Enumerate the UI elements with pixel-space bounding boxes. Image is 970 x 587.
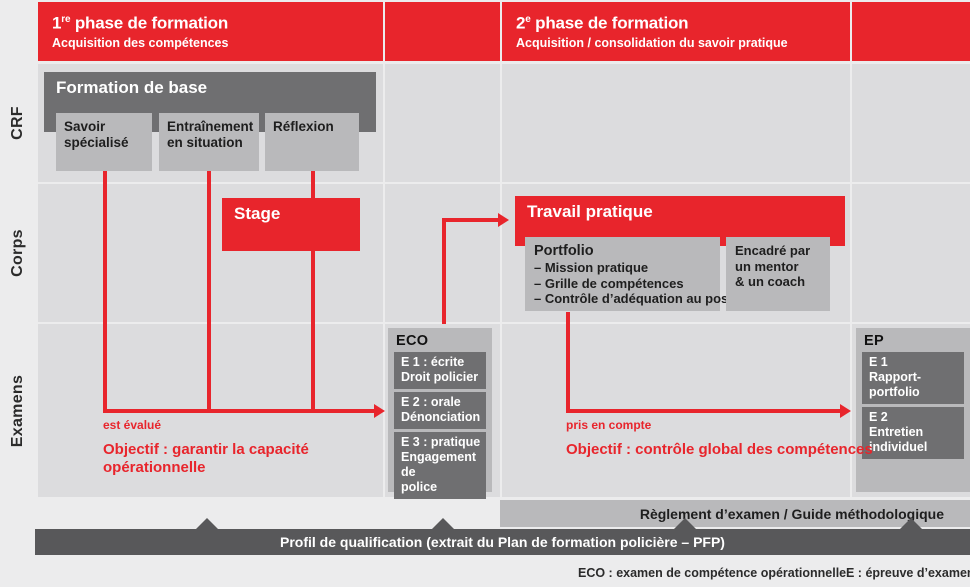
portfolio-item-3: – Contrôle d’adéquation au poste (534, 291, 712, 307)
portfolio-item-2: – Grille de compétences (534, 276, 712, 292)
legend-eco: ECO : examen de compétence opérationnell… (578, 566, 846, 580)
stage-box: Stage (222, 198, 360, 251)
note-objectif-gauche-line2: opérationnelle (103, 459, 309, 477)
stage-title: Stage (222, 198, 360, 224)
eco-item-e2: E 2 : orale Dénonciation (394, 392, 486, 429)
arrowhead-to-ep-icon (840, 404, 851, 418)
profil-qualification-bar: Profil de qualification (extrait du Plan… (35, 529, 970, 555)
profil-notch-2-icon (432, 518, 454, 529)
grid-cell-crf-c3 (502, 64, 850, 182)
portfolio-item-1: – Mission pratique (534, 260, 712, 276)
connector-entrainement-vertical (207, 170, 211, 413)
note-objectif-gauche-line1: Objectif : garantir la capacité (103, 441, 309, 459)
eco-item-e1-line1: E 1 : écrite (401, 355, 482, 370)
eco-item-e1-line2: Droit policier (401, 370, 482, 385)
connector-reflexion-vertical (311, 170, 315, 200)
connector-stage-to-travail-horizontal (442, 218, 500, 222)
row-label-examens: Examens (0, 324, 36, 497)
ep-item-e2-line2: Entretien (869, 425, 960, 440)
arrowhead-to-eco-icon (374, 404, 385, 418)
grid-cell-crf-c4 (852, 64, 970, 182)
grid-cell-crf-c2 (385, 64, 500, 182)
portfolio-panel: Portfolio – Mission pratique – Grille de… (525, 237, 720, 311)
profil-notch-1-icon (196, 518, 218, 529)
phase-2-header-spacer (852, 2, 970, 61)
encadre-line-1: Encadré par (735, 243, 822, 259)
phase-2-header: 2e phase de formation Acquisition / cons… (502, 2, 850, 61)
phase-1-subtitle: Acquisition des compétences (52, 35, 371, 51)
ep-title: EP (856, 328, 970, 352)
connector-stage-to-travail-vertical (442, 218, 446, 324)
ep-item-e2-line1: E 2 (869, 410, 960, 425)
ep-item-e1-line1: E 1 (869, 355, 960, 370)
ep-item-e1: E 1 Rapport-portfolio (862, 352, 964, 404)
ep-group: EP E 1 Rapport-portfolio E 2 Entretien i… (856, 328, 970, 492)
phase-1-title: 1re phase de formation (52, 10, 371, 33)
eco-item-e2-line2: Dénonciation (401, 410, 482, 425)
eco-item-e3: E 3 : pratique Engagement de police (394, 432, 486, 499)
encadre-line-2: un mentor (735, 259, 822, 275)
phase-1-header-spacer (385, 2, 500, 61)
connector-stage-vertical (311, 250, 315, 413)
connector-savoir-vertical (103, 170, 107, 413)
module-reflexion-line1: Réflexion (273, 119, 353, 135)
row-label-corps: Corps (0, 184, 36, 322)
formation-de-base-title: Formation de base (44, 72, 376, 98)
encadre-line-3: & un coach (735, 274, 822, 290)
eco-item-e2-line1: E 2 : orale (401, 395, 482, 410)
phase-1-header: 1re phase de formation Acquisition des c… (38, 2, 383, 61)
row-label-crf: CRF (0, 64, 36, 182)
note-pris-en-compte: pris en compte (566, 418, 651, 432)
module-savoir-line1: Savoir (64, 119, 146, 135)
note-objectif-gauche: Objectif : garantir la capacité opératio… (103, 441, 309, 477)
profil-notch-4-icon (900, 518, 922, 529)
ep-item-e2-line3: individuel (869, 440, 960, 455)
portfolio-title: Portfolio (534, 243, 712, 260)
ep-item-e2: E 2 Entretien individuel (862, 407, 964, 459)
module-savoir-line2: spécialisé (64, 135, 146, 151)
arrowhead-to-travail-pratique-icon (498, 213, 509, 227)
diagram-root: 1re phase de formation Acquisition des c… (0, 0, 970, 587)
eco-item-e3-line1: E 3 : pratique (401, 435, 482, 450)
phase-2-subtitle: Acquisition / consolidation du savoir pr… (516, 35, 838, 51)
travail-pratique-title: Travail pratique (515, 196, 845, 222)
note-est-evalue: est évalué (103, 418, 161, 432)
module-savoir-specialise: Savoir spécialisé (56, 113, 152, 171)
module-reflexion: Réflexion (265, 113, 359, 171)
profil-notch-3-icon (674, 518, 696, 529)
ep-item-e1-line2: Rapport-portfolio (869, 370, 960, 400)
encadre-par-panel: Encadré par un mentor & un coach (726, 237, 830, 311)
eco-item-e3-line3: police (401, 480, 482, 495)
module-entrainement-line1: Entraînement (167, 119, 253, 135)
note-objectif-droite: Objectif : contrôle global des compétenc… (566, 441, 873, 459)
grid-cell-corps-c4 (852, 184, 970, 322)
connector-portfolio-vertical (566, 312, 570, 411)
row-label-crf-text: CRF (9, 106, 27, 140)
module-entrainement-en-situation: Entraînement en situation (159, 113, 259, 171)
module-entrainement-line2: en situation (167, 135, 253, 151)
legend-e: E : épreuve d’examen (846, 566, 970, 580)
eco-group: ECO E 1 : écrite Droit policier E 2 : or… (388, 328, 492, 492)
row-label-examens-text: Examens (9, 374, 27, 446)
phase-2-title: 2e phase de formation (516, 10, 838, 33)
connector-portfolio-horizontal (566, 409, 844, 413)
eco-title: ECO (388, 328, 492, 352)
eco-item-e1: E 1 : écrite Droit policier (394, 352, 486, 389)
connector-examens-left-horizontal (103, 409, 378, 413)
row-label-corps-text: Corps (9, 229, 27, 277)
eco-item-e3-line2: Engagement de (401, 450, 482, 480)
